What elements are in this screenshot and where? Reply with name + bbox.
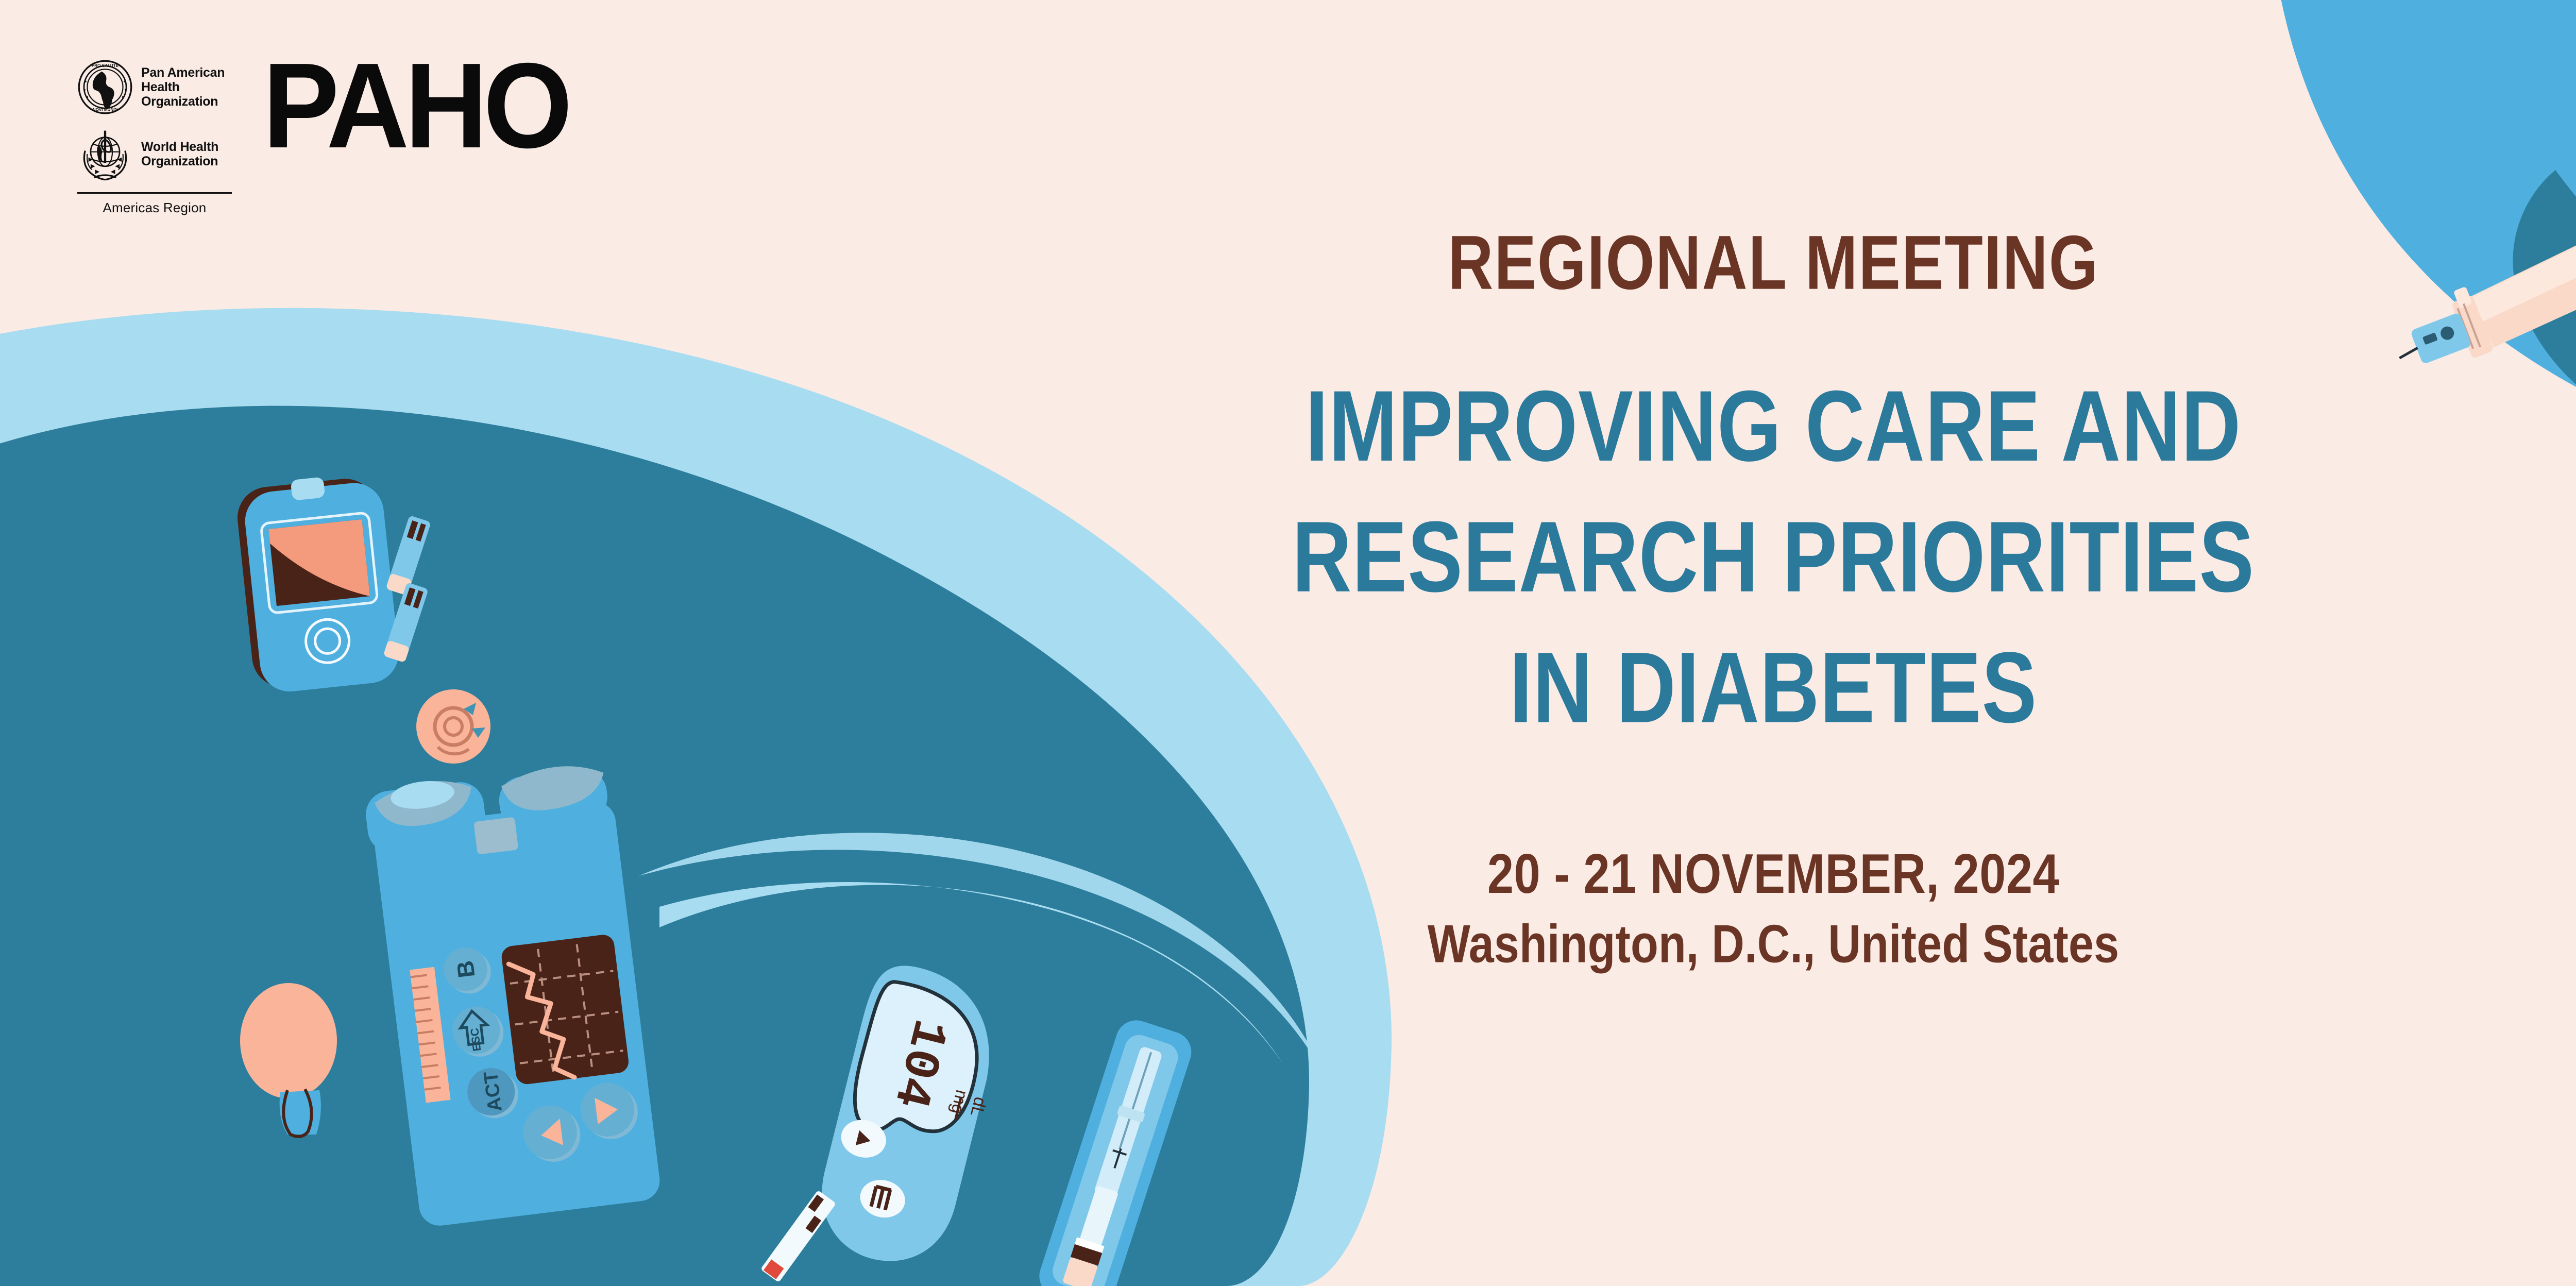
who-emblem-text: World Health Organization bbox=[141, 140, 218, 168]
glucose-meter-illustration bbox=[234, 471, 401, 695]
logo-divider bbox=[77, 192, 232, 194]
coral-dial-illustration bbox=[416, 689, 490, 764]
paho-emblem-group: PRO SALUTE NOVI MUNDI Pan American Healt… bbox=[77, 59, 232, 216]
paho-emblem-text: Pan American Health Organization bbox=[141, 65, 225, 109]
insulin-pump-illustration: B ESC ACT bbox=[363, 758, 662, 1228]
svg-text:PRO SALUTE: PRO SALUTE bbox=[92, 63, 119, 68]
paho-seal-icon: PRO SALUTE NOVI MUNDI bbox=[77, 59, 133, 115]
lancing-device-illustration bbox=[240, 983, 337, 1137]
who-emblem-row: World Health Organization bbox=[77, 126, 232, 182]
paho-wordmark: PAHO bbox=[263, 56, 568, 156]
event-banner: .ln { fill:none; stroke:#4A2318; stroke-… bbox=[0, 0, 2576, 1286]
americas-region-label: Americas Region bbox=[77, 200, 232, 216]
glucometer-104-illustration: 104 mg dL bbox=[758, 948, 1017, 1286]
paho-emblem-row: PRO SALUTE NOVI MUNDI Pan American Healt… bbox=[77, 59, 232, 115]
lancet-pen-illustration bbox=[2380, 183, 2576, 383]
svg-text:NOVI MUNDI: NOVI MUNDI bbox=[93, 107, 118, 112]
paho-logo-block: PRO SALUTE NOVI MUNDI Pan American Healt… bbox=[77, 59, 551, 216]
syringe-case-illustration bbox=[1034, 1015, 1197, 1286]
svg-text:B: B bbox=[451, 959, 480, 979]
who-emblem-icon bbox=[77, 126, 133, 182]
